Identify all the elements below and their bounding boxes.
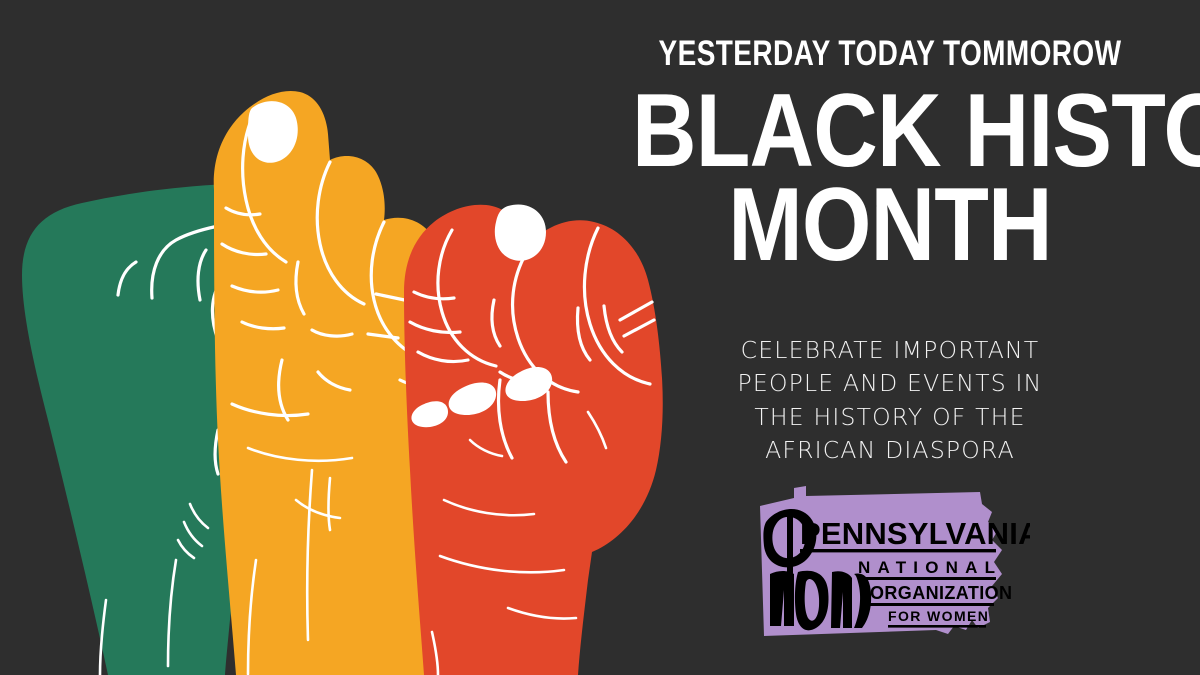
- logo-line-pennsylvania: PENNSYLVANIA: [800, 516, 1030, 551]
- text-column: YESTERDAY TODAY TOMMOROW BLACK HISTORY M…: [590, 0, 1200, 675]
- page-title: BLACK HISTORY MONTH: [590, 86, 1190, 271]
- eyebrow-tagline: YESTERDAY TODAY TOMMOROW: [650, 36, 1130, 71]
- poster-canvas: .ln { fill:none; stroke:#ffffff; stroke-…: [0, 0, 1200, 675]
- logo-line-national: NATIONAL: [858, 558, 1002, 577]
- body-copy-line-1: CELEBRATE IMPORTANT: [590, 334, 1190, 367]
- logo-line-for-women: FOR WOMEN: [888, 608, 989, 624]
- body-copy-line-4: AFRICAN DIASPORA: [590, 434, 1190, 467]
- body-copy-line-3: THE HISTORY OF THE: [590, 401, 1190, 434]
- body-copy: CELEBRATE IMPORTANT PEOPLE AND EVENTS IN…: [590, 334, 1190, 467]
- headline-line-1: BLACK HISTORY: [632, 86, 1148, 178]
- pennsylvania-now-logo: PENNSYLVANIA NATIONAL ORGANIZATION FOR W…: [740, 478, 1030, 650]
- body-copy-line-2: PEOPLE AND EVENTS IN: [590, 367, 1190, 400]
- logo-line-organization: ORGANIZATION: [870, 583, 1012, 603]
- headline-line-2: MONTH: [632, 180, 1148, 272]
